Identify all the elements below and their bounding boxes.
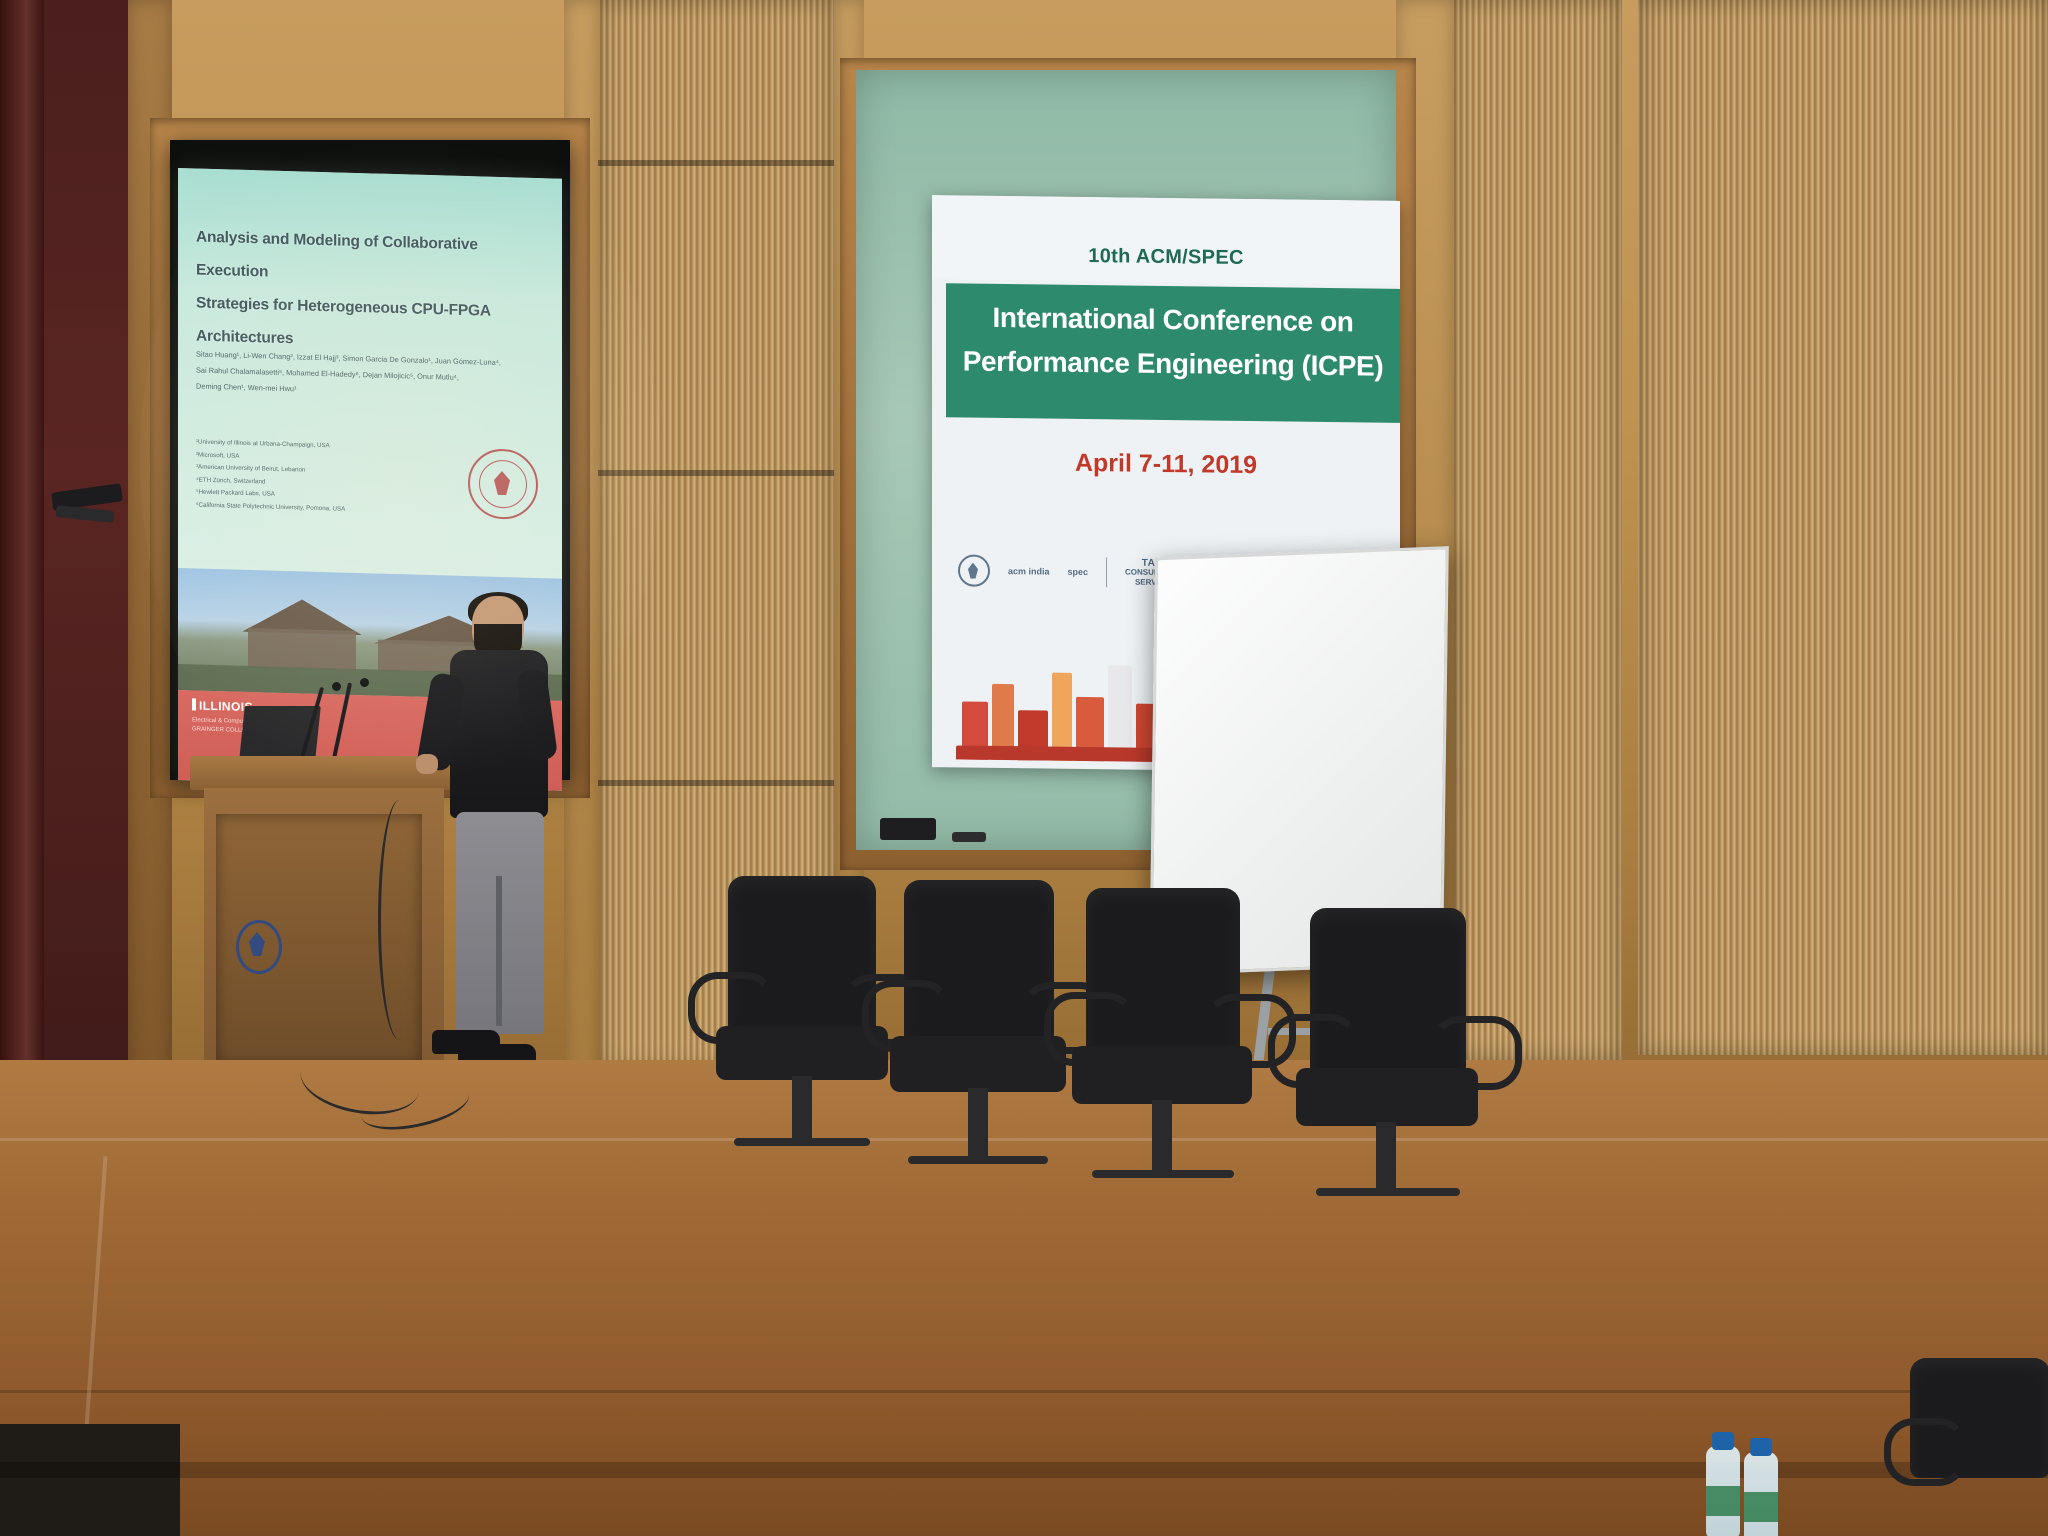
iit-seal-icon	[958, 554, 990, 586]
chair-3-post	[1152, 1100, 1172, 1176]
logo-bar-icon	[192, 698, 196, 710]
left-wall-edge	[0, 0, 44, 1160]
chair-1-base	[734, 1138, 870, 1146]
banner-title-band: International Conference on Performance …	[946, 283, 1400, 423]
stage-edge	[0, 1462, 2048, 1478]
chair-3[interactable]	[1036, 888, 1286, 1198]
acm-logo-icon: acm india	[1008, 566, 1050, 577]
ledge-device	[880, 818, 936, 840]
wall-seam-1	[598, 160, 834, 166]
podium-crest-icon	[236, 920, 282, 974]
wall-rib-panel-2	[1452, 0, 1622, 1060]
wall-seam-3	[598, 780, 834, 786]
chair-3-base	[1092, 1170, 1234, 1178]
chair-1-post	[792, 1076, 812, 1144]
acm-label: acm india	[1008, 566, 1050, 577]
sponsor-divider	[1106, 557, 1107, 587]
speaker-leg-gap	[496, 876, 502, 1026]
spec-label: spec	[1068, 567, 1089, 577]
floor-shadow-corner	[0, 1424, 180, 1536]
chair-5[interactable]	[1910, 1358, 2048, 1536]
bottle-cap-2	[1750, 1438, 1772, 1456]
chair-2-post	[968, 1088, 988, 1162]
wall-rib-panel-3	[1638, 0, 2048, 1055]
bottle-label-2	[1744, 1492, 1778, 1522]
chair-4-base	[1316, 1188, 1460, 1196]
bottle-label-1	[1706, 1486, 1740, 1516]
chair-4[interactable]	[1258, 908, 1508, 1218]
chair-3-seat	[1072, 1046, 1252, 1104]
auditorium-scene: Analysis and Modeling of Collaborative E…	[0, 0, 2048, 1536]
ledge-object-small	[952, 832, 986, 842]
chair-5-arm-left	[1884, 1418, 1968, 1486]
banner-acm-spec-line: 10th ACM/SPEC	[932, 243, 1400, 272]
banner-date: April 7-11, 2019	[932, 447, 1400, 482]
water-bottle-2[interactable]	[1744, 1452, 1778, 1536]
spec-logo-icon: spec	[1068, 567, 1089, 577]
chair-2-base	[908, 1156, 1048, 1164]
banner-title-line-1: International Conference on	[946, 301, 1400, 339]
banner-title-line-2: Performance Engineering (ICPE)	[946, 345, 1400, 383]
bottle-cap-1	[1712, 1432, 1734, 1450]
chair-4-seat	[1296, 1068, 1478, 1126]
banner-top-white: 10th ACM/SPEC	[932, 195, 1400, 285]
chair-4-post	[1376, 1122, 1396, 1194]
screen-glow	[140, 80, 660, 840]
water-bottle-1[interactable]	[1706, 1446, 1740, 1536]
floor-seam-2	[0, 1390, 2048, 1393]
